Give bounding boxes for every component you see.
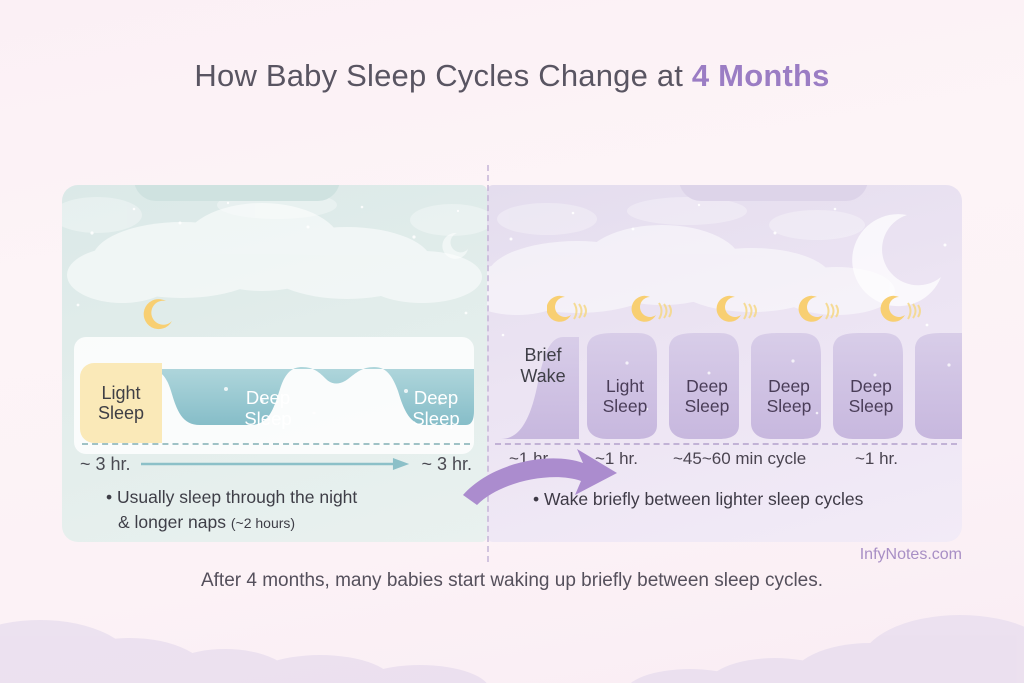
cycle-4-line2: Sleep — [833, 397, 909, 417]
cycle-label-2: Deep Sleep — [669, 377, 745, 417]
left-bullet-line2: & longer naps — [118, 512, 231, 532]
cycle-3-line2: Sleep — [751, 397, 827, 417]
comparison-panels: Before 4 Months Light Sleep — [62, 185, 962, 542]
cycle-2-line2: Sleep — [669, 397, 745, 417]
page-title-main: How Baby Sleep Cycles Change at — [194, 58, 692, 93]
left-bullet-line1: • Usually sleep through the night — [106, 485, 476, 510]
infographic-page: { "title": { "main": "How Baby Sleep Cyc… — [0, 0, 1024, 683]
cycle-label-4: Deep Sleep — [833, 377, 909, 417]
brief-wake-line2: Wake — [501, 366, 585, 387]
right-duration-3: ~45~60 min cycle — [673, 449, 806, 469]
cycle-3-line1: Deep — [751, 377, 827, 397]
light-sleep-line1: Light — [101, 383, 140, 403]
deep-sleep-1-line1: Deep — [230, 387, 306, 408]
deep-sleep-2-line1: Deep — [398, 387, 474, 408]
right-duration-4: ~1 hr. — [855, 449, 898, 469]
cycle-label-3: Deep Sleep — [751, 377, 827, 417]
watermark: InfyNotes.com — [860, 546, 962, 564]
left-bullet-note: (~2 hours) — [231, 515, 295, 531]
cycle-1-line1: Light — [587, 377, 663, 397]
cycle-4-line1: Deep — [833, 377, 909, 397]
light-sleep-line2: Sleep — [98, 403, 144, 423]
page-title-accent: 4 Months — [692, 58, 830, 93]
cycle-label-1: Light Sleep — [587, 377, 663, 417]
left-bullet-text: • Usually sleep through the night & long… — [106, 485, 476, 536]
deep-sleep-2-line2: Sleep — [398, 408, 474, 429]
footer-caption: After 4 months, many babies start waking… — [0, 570, 1024, 592]
duration-arrow-icon — [141, 455, 412, 473]
brief-wake-line1: Brief — [501, 345, 585, 366]
cycle-2-line1: Deep — [669, 377, 745, 397]
panel-before-4-months: Before 4 Months Light Sleep — [62, 185, 487, 542]
left-duration-row: ~ 3 hr. ~ 3 hr. — [80, 449, 472, 479]
light-sleep-block: Light Sleep — [80, 363, 162, 443]
left-baseline-dashed — [82, 443, 470, 445]
deep-sleep-1-line2: Sleep — [230, 408, 306, 429]
curved-arrow-right-icon — [457, 443, 622, 513]
deep-sleep-block-1: Deep Sleep — [230, 387, 306, 430]
badge-before-4-months: Before 4 Months — [134, 185, 340, 201]
left-duration-start: ~ 3 hr. — [80, 454, 131, 475]
deep-sleep-block-2: Deep Sleep — [398, 387, 474, 430]
page-title: How Baby Sleep Cycles Change at 4 Months — [0, 58, 1024, 94]
brief-wake-label: Brief Wake — [501, 345, 585, 386]
badge-after-4-months: After 4 Months — [679, 185, 868, 201]
crescent-moon-icon — [140, 297, 176, 333]
cycle-1-line2: Sleep — [587, 397, 663, 417]
